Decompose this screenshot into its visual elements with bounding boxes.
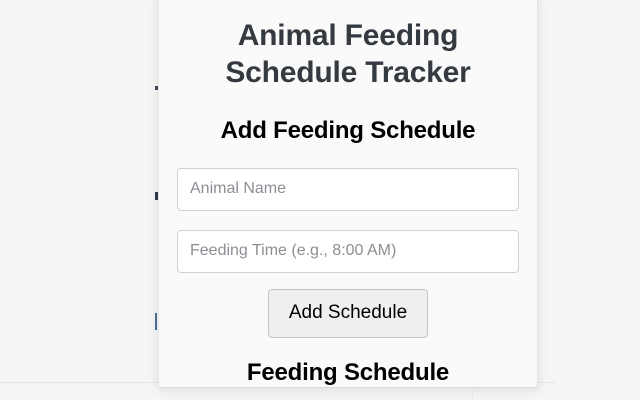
background-baseline-left	[0, 382, 160, 383]
feeding-schedule-heading: Feeding Schedule	[177, 359, 519, 388]
add-schedule-form: Add Schedule	[177, 168, 519, 338]
add-feeding-schedule-heading: Add Feeding Schedule	[177, 117, 519, 146]
background-clipped-artifact-bottom	[155, 313, 157, 330]
app-card: Animal Feeding Schedule Tracker Add Feed…	[158, 0, 538, 388]
animal-name-input[interactable]	[177, 168, 519, 211]
page-title: Animal Feeding Schedule Tracker	[177, 18, 519, 91]
add-schedule-button[interactable]: Add Schedule	[268, 289, 428, 338]
submit-row: Add Schedule	[177, 289, 519, 338]
feeding-time-input[interactable]	[177, 230, 519, 273]
